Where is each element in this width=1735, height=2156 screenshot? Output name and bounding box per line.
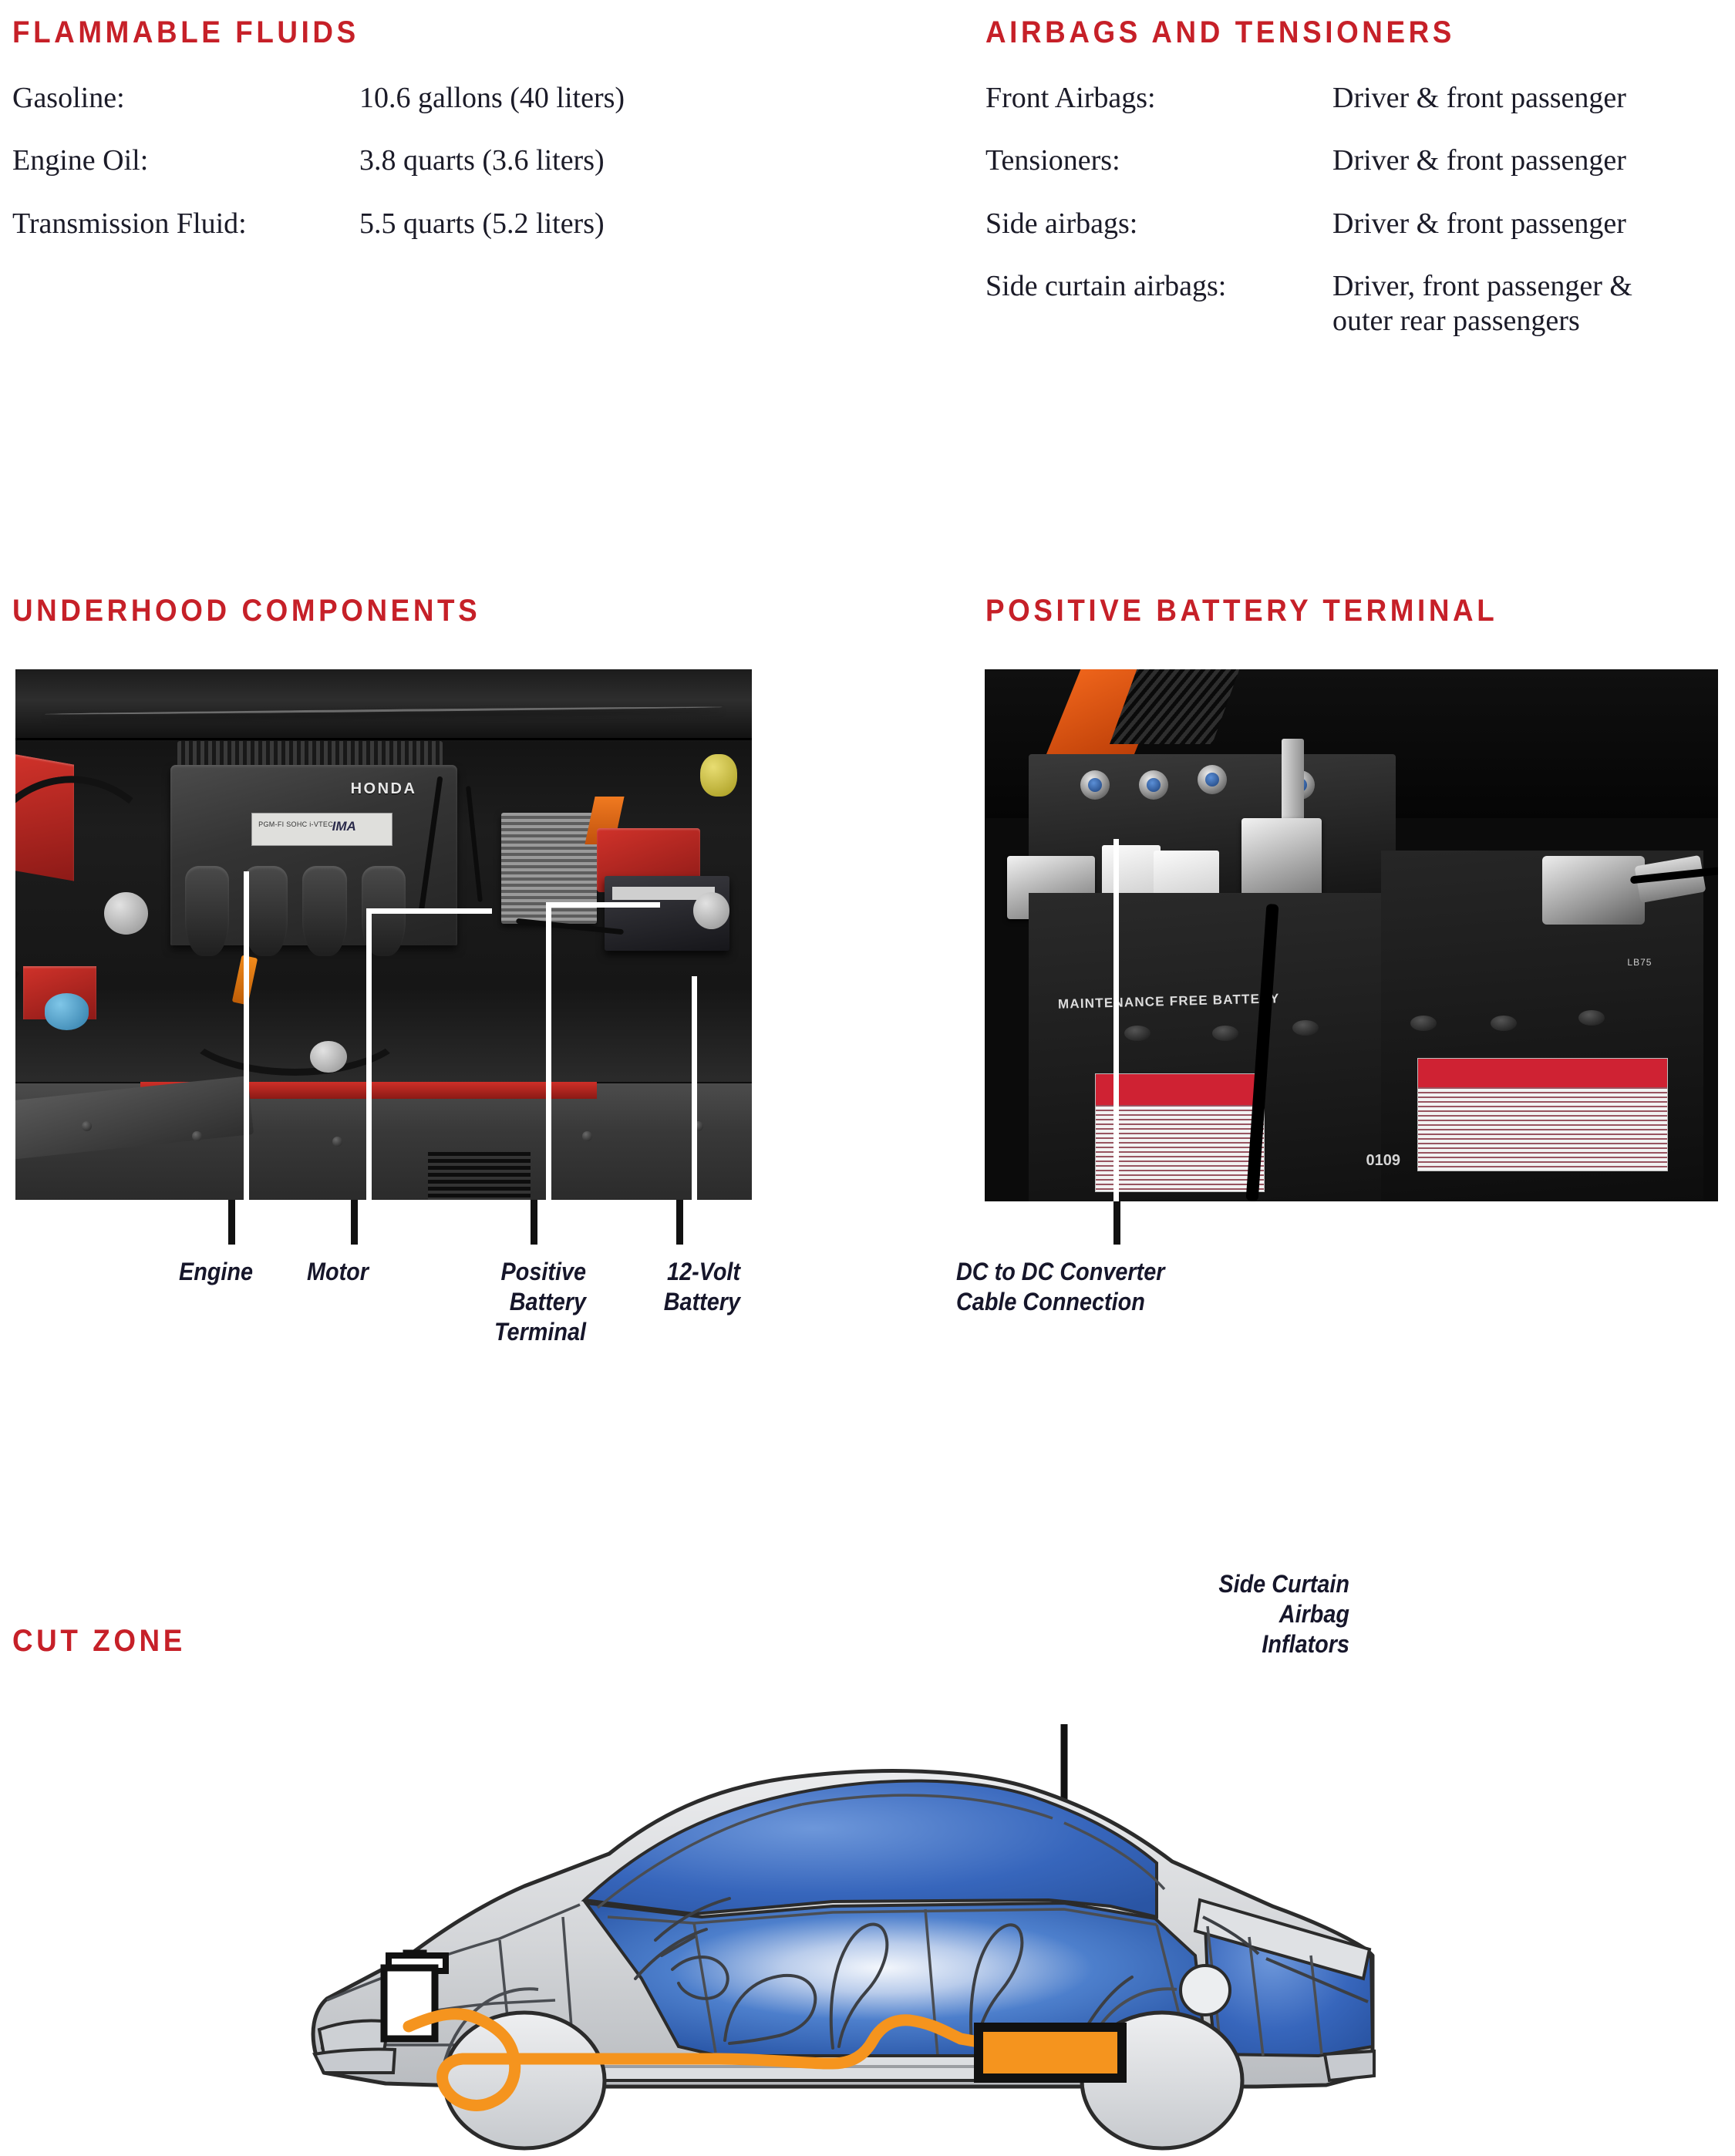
row-value: 3.8 quarts (3.6 liters) (359, 143, 625, 206)
ima-badge-text: IMA (332, 819, 356, 834)
row-label: Tensioners: (985, 143, 1332, 206)
high-voltage-battery-pack (979, 2027, 1122, 2078)
row-value: Driver & front passenger (1332, 81, 1632, 143)
leader-line-pos-term-h (546, 902, 660, 908)
section-title-positive-battery-terminal: POSITIVE BATTERY TERMINAL (985, 594, 1497, 628)
cut-zone-vehicle-diagram (293, 1724, 1411, 2156)
table-row: Transmission Fluid: 5.5 quarts (5.2 lite… (12, 207, 625, 241)
table-row: Front Airbags: Driver & front passenger (985, 81, 1632, 143)
leader-line-pos-term (546, 902, 551, 1200)
table-row: Tensioners: Driver & front passenger (985, 143, 1632, 206)
leader-stub-engine (228, 1200, 235, 1245)
row-label: Side airbags: (985, 207, 1332, 269)
section-title-airbags-and-tensioners: AIRBAGS AND TENSIONERS (985, 15, 1455, 50)
callout-engine: Engine (179, 1257, 253, 1287)
battery-date-code-text: 0109 (1366, 1152, 1401, 1170)
row-value: Driver & front passenger (1332, 207, 1632, 269)
row-label: Gasoline: (12, 81, 359, 143)
leader-stub-12v-battery (676, 1200, 683, 1245)
section-title-underhood-components: UNDERHOOD COMPONENTS (12, 594, 480, 628)
leader-line-engine (244, 871, 249, 1200)
callout-motor: Motor (307, 1257, 369, 1287)
rear-arch-detail (1181, 1966, 1230, 2015)
table-row: Side airbags: Driver & front passenger (985, 207, 1632, 269)
row-label: Front Airbags: (985, 81, 1332, 143)
battery-size-code-text: LB75 (1627, 957, 1652, 968)
leader-stub-dc-converter (1113, 1201, 1120, 1245)
leader-stub-motor (351, 1200, 358, 1245)
callout-side-curtain-airbag-inflators: Side Curtain Airbag Inflators (1197, 1569, 1349, 1659)
leader-line-motor (366, 908, 372, 1200)
table-row: Side curtain airbags: Driver, front pass… (985, 269, 1632, 338)
row-value: Driver, front passenger & outer rear pas… (1332, 269, 1632, 338)
leader-line-12v-battery (692, 976, 697, 1200)
section-title-cut-zone: CUT ZONE (12, 1624, 186, 1659)
keep-out-of-reach-label (1095, 1073, 1265, 1192)
honda-logo-text: HONDA (351, 780, 417, 798)
underhood-components-photo: HONDA PGM-FI SOHC i-VTEC IMA (15, 669, 752, 1200)
positive-battery-terminal-photo: MAINTENANCE FREE BATTERY 0109 LB75 (985, 669, 1718, 1201)
row-value: Driver & front passenger (1332, 143, 1632, 206)
leader-line-dc-converter (1113, 839, 1119, 1201)
leader-stub-pos-terminal (531, 1200, 537, 1245)
table-row: Engine Oil: 3.8 quarts (3.6 liters) (12, 143, 625, 206)
row-label: Transmission Fluid: (12, 207, 359, 241)
section-title-flammable-fluids: FLAMMABLE FLUIDS (12, 15, 359, 50)
danger-poison-label (1417, 1058, 1668, 1171)
leader-line-motor-h (366, 908, 492, 914)
flammable-fluids-table: Gasoline: 10.6 gallons (40 liters) Engin… (12, 81, 625, 241)
rear-bumper (1325, 2051, 1374, 2080)
row-label: Side curtain airbags: (985, 269, 1332, 338)
engine-plate-text: PGM-FI SOHC i-VTEC (258, 820, 333, 828)
front-bumper (315, 2049, 395, 2073)
airbags-tensioners-table: Front Airbags: Driver & front passenger … (985, 81, 1632, 338)
callout-dc-to-dc-converter: DC to DC Converter Cable Connection (956, 1257, 1164, 1317)
row-value: 5.5 quarts (5.2 liters) (359, 207, 625, 241)
table-row: Gasoline: 10.6 gallons (40 liters) (12, 81, 625, 143)
callout-positive-battery-terminal: Positive Battery Terminal (454, 1257, 586, 1347)
row-label: Engine Oil: (12, 143, 359, 206)
front-wheel (444, 2013, 605, 2148)
row-value: 10.6 gallons (40 liters) (359, 81, 625, 143)
callout-12-volt-battery: 12-Volt Battery (608, 1257, 740, 1317)
